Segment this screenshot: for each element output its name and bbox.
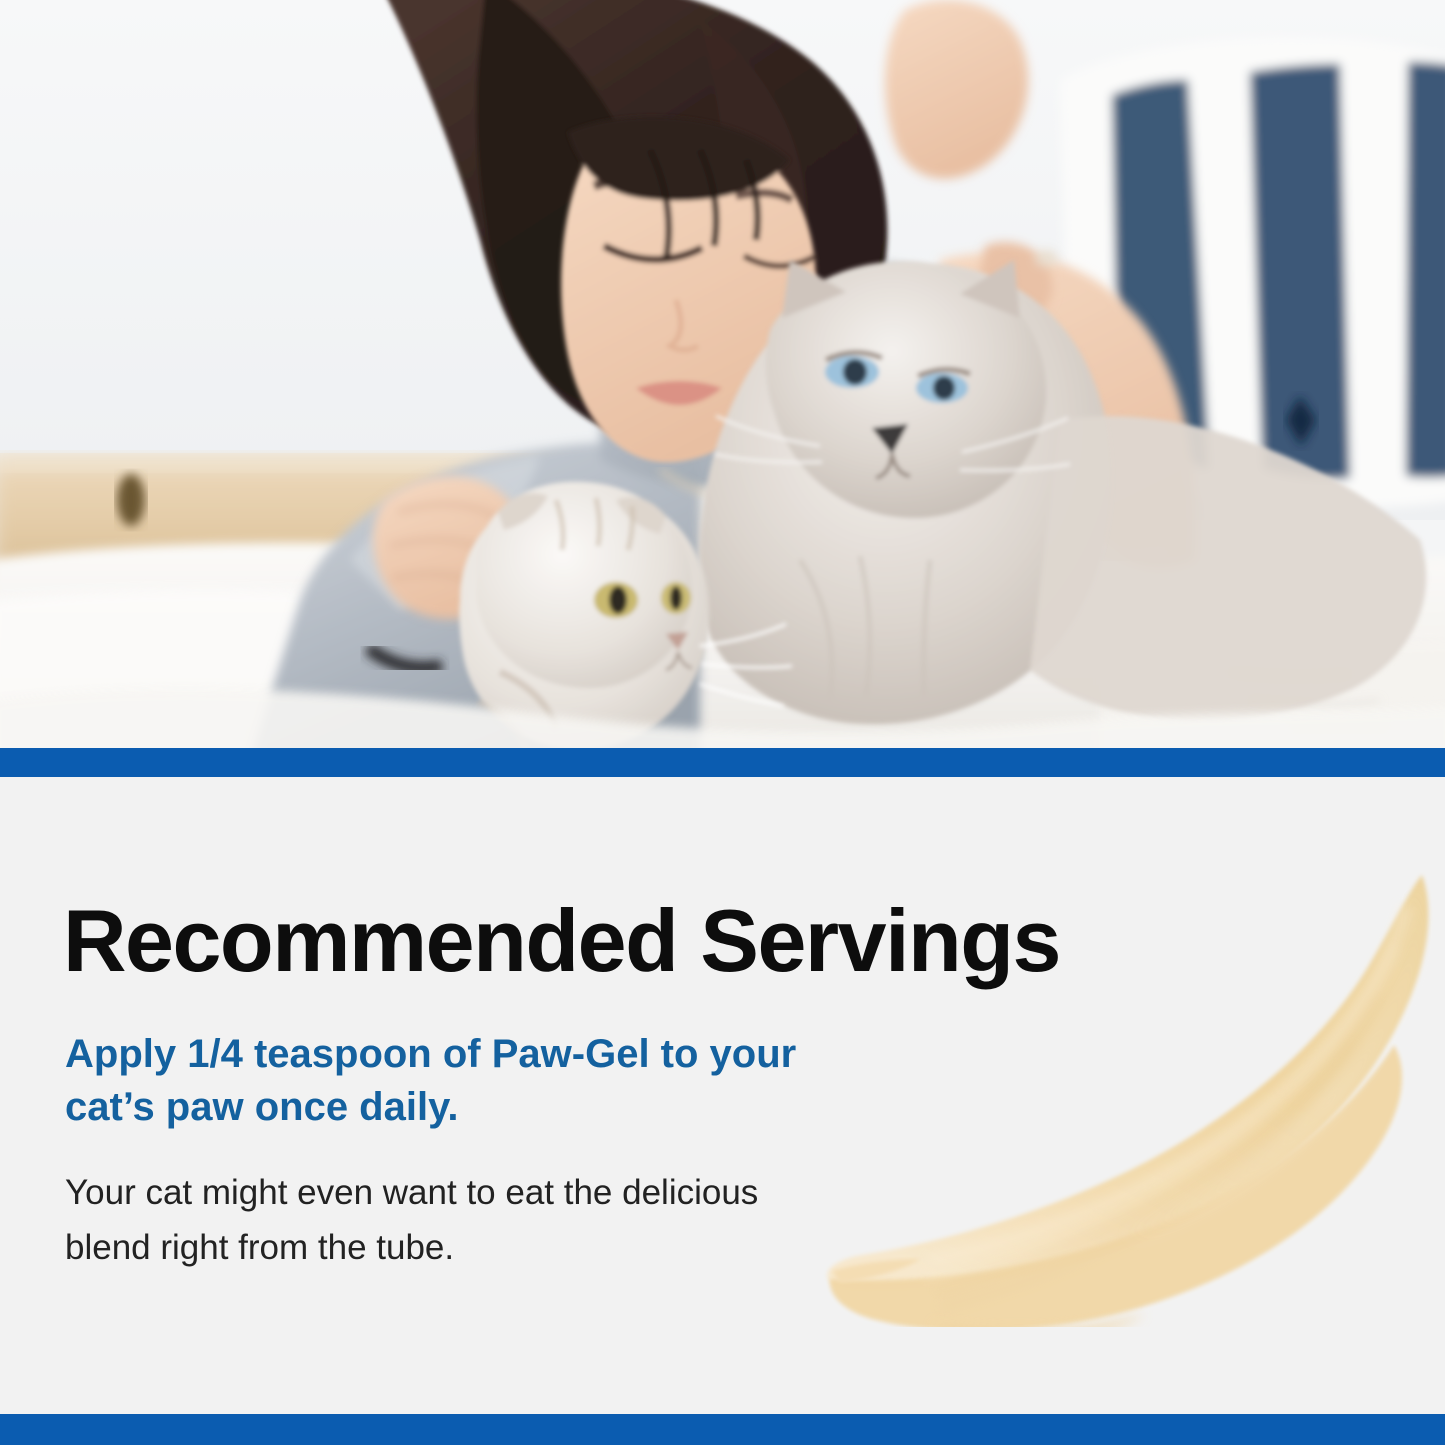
product-infographic-page: Recommended Servings Apply 1/4 teaspoon … [0, 0, 1445, 1445]
bottom-divider-bar [0, 1414, 1445, 1445]
dosage-instruction: Apply 1/4 teaspoon of Paw-Gel to your ca… [65, 1028, 825, 1134]
hero-photo [0, 0, 1445, 748]
supporting-copy: Your cat might even want to eat the deli… [65, 1165, 765, 1276]
top-divider-bar [0, 748, 1445, 777]
cat-photo-illustration [0, 0, 1445, 748]
recommended-servings-section: Recommended Servings Apply 1/4 teaspoon … [0, 777, 1445, 1414]
page-title: Recommended Servings [63, 897, 1060, 985]
